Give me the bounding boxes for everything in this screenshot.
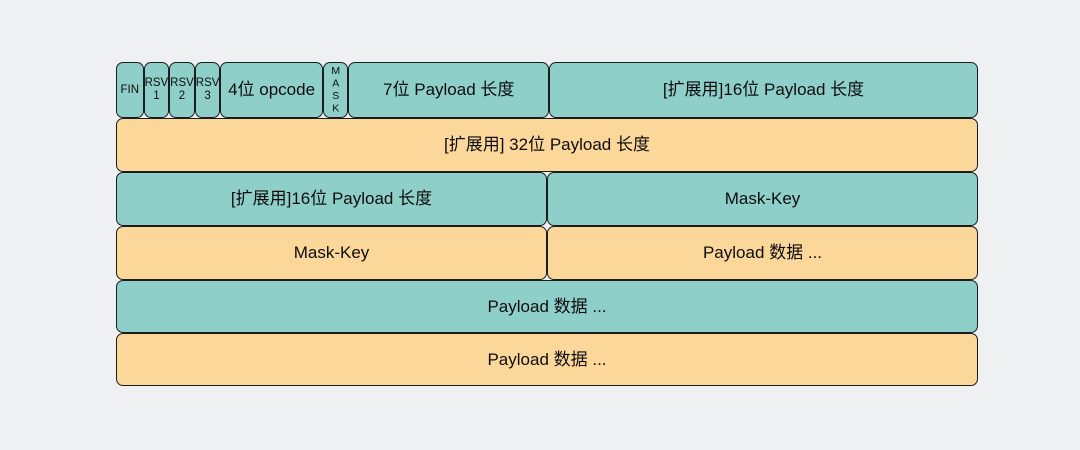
cell-mask: MASK <box>323 62 349 118</box>
cell-payload-data-c: Payload 数据 ... <box>116 333 978 386</box>
cell-fin-label: FIN <box>121 84 140 97</box>
cell-payload-data-a-label: Payload 数据 ... <box>703 243 822 262</box>
cell-extended-length-32: [扩展用] 32位 Payload 长度 <box>116 118 978 172</box>
cell-mask-label: MASK <box>330 65 341 115</box>
cell-payload-length-7-label: 7位 Payload 长度 <box>383 80 514 99</box>
cell-payload-data-c-label: Payload 数据 ... <box>487 350 606 369</box>
cell-mask-key-a: Mask-Key <box>547 172 978 226</box>
cell-extended-length-16-a-label: [扩展用]16位 Payload 长度 <box>663 80 864 99</box>
cell-opcode-label: 4位 opcode <box>228 80 315 99</box>
cell-rsv3: RSV 3 <box>195 62 221 118</box>
frame-row-4: Mask-Key Payload 数据 ... <box>116 226 978 280</box>
websocket-frame-diagram: FIN RSV 1 RSV 2 RSV 3 4位 opcode MASK <box>116 62 978 386</box>
cell-rsv3-index: 3 <box>196 90 220 103</box>
cell-rsv2-label: RSV <box>170 77 194 90</box>
cell-extended-length-32-label: [扩展用] 32位 Payload 长度 <box>444 135 650 154</box>
cell-fin: FIN <box>116 62 144 118</box>
cell-mask-key-b: Mask-Key <box>116 226 547 280</box>
cell-payload-length-7: 7位 Payload 长度 <box>348 62 549 118</box>
cell-mask-key-a-label: Mask-Key <box>725 189 801 208</box>
cell-payload-data-b: Payload 数据 ... <box>116 280 978 333</box>
frame-row-3: [扩展用]16位 Payload 长度 Mask-Key <box>116 172 978 226</box>
frame-row-6: Payload 数据 ... <box>116 333 978 386</box>
cell-rsv3-text: RSV 3 <box>196 77 220 103</box>
cell-extended-length-16-a: [扩展用]16位 Payload 长度 <box>549 62 978 118</box>
frame-row-5: Payload 数据 ... <box>116 280 978 333</box>
cell-payload-data-a: Payload 数据 ... <box>547 226 978 280</box>
frame-row-1: FIN RSV 1 RSV 2 RSV 3 4位 opcode MASK <box>116 62 978 118</box>
frame-row-2: [扩展用] 32位 Payload 长度 <box>116 118 978 172</box>
cell-rsv2: RSV 2 <box>169 62 195 118</box>
cell-rsv3-label: RSV <box>196 77 220 90</box>
cell-rsv1-label: RSV <box>145 77 169 90</box>
cell-extended-length-16-b-label: [扩展用]16位 Payload 长度 <box>231 189 432 208</box>
cell-payload-data-b-label: Payload 数据 ... <box>487 297 606 316</box>
cell-extended-length-16-b: [扩展用]16位 Payload 长度 <box>116 172 547 226</box>
cell-rsv1-index: 1 <box>145 90 169 103</box>
cell-rsv2-index: 2 <box>170 90 194 103</box>
cell-rsv1-text: RSV 1 <box>145 77 169 103</box>
cell-mask-key-b-label: Mask-Key <box>294 243 370 262</box>
cell-rsv2-text: RSV 2 <box>170 77 194 103</box>
cell-rsv1: RSV 1 <box>144 62 170 118</box>
cell-opcode: 4位 opcode <box>220 62 322 118</box>
